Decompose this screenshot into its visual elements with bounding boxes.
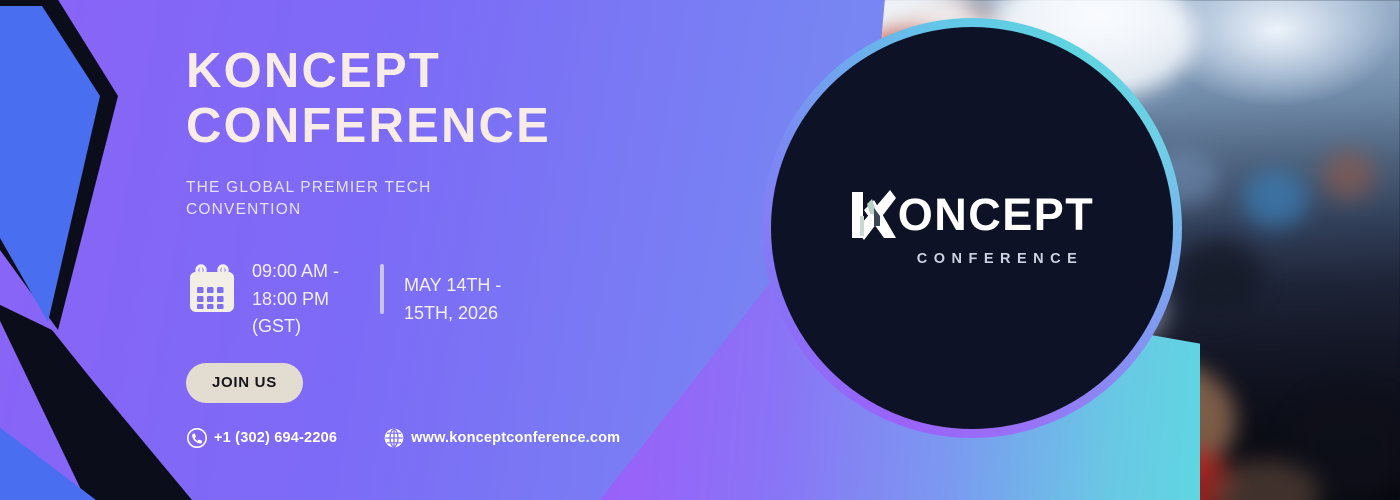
contact-phone[interactable]: +1 (302) 694-2206	[186, 427, 337, 449]
logo-wordmark: ONCEPT	[850, 186, 1095, 244]
contact-row: +1 (302) 694-2206 www.konceptconference.…	[186, 427, 746, 449]
title-line-2: CONFERENCE	[186, 99, 551, 153]
logo-tagline: CONFERENCE	[906, 251, 1095, 267]
logo-name: ONCEPT	[898, 192, 1095, 237]
join-us-button[interactable]: JOIN US	[186, 363, 303, 403]
conference-banner: ONCEPT CONFERENCE KONCEPT CONFERENCE THE…	[0, 0, 1400, 500]
banner-content: KONCEPT CONFERENCE THE GLOBAL PREMIER TE…	[186, 0, 746, 500]
phone-number: +1 (302) 694-2206	[214, 430, 337, 446]
title-line-1: KONCEPT	[186, 44, 441, 98]
logo-circle: ONCEPT CONFERENCE	[762, 18, 1182, 438]
phone-icon	[186, 427, 208, 449]
globe-icon	[383, 427, 405, 449]
event-date: MAY 14TH - 15TH, 2026	[404, 258, 534, 328]
meta-divider	[380, 264, 384, 314]
schedule-row: 09:00 AM - 18:00 PM (GST) MAY 14TH - 15T…	[186, 258, 746, 342]
contact-website[interactable]: www.konceptconference.com	[383, 427, 620, 449]
banner-subtitle: THE GLOBAL PREMIER TECH CONVENTION	[186, 155, 476, 222]
event-time: 09:00 AM - 18:00 PM (GST)	[252, 258, 364, 342]
calendar-icon	[186, 262, 238, 319]
website-url: www.konceptconference.com	[411, 430, 620, 446]
k-monogram-icon	[850, 186, 896, 244]
logo-lockup: ONCEPT CONFERENCE	[850, 186, 1095, 267]
page-title: KONCEPT CONFERENCE	[186, 0, 746, 155]
logo-disc: ONCEPT CONFERENCE	[771, 27, 1173, 429]
